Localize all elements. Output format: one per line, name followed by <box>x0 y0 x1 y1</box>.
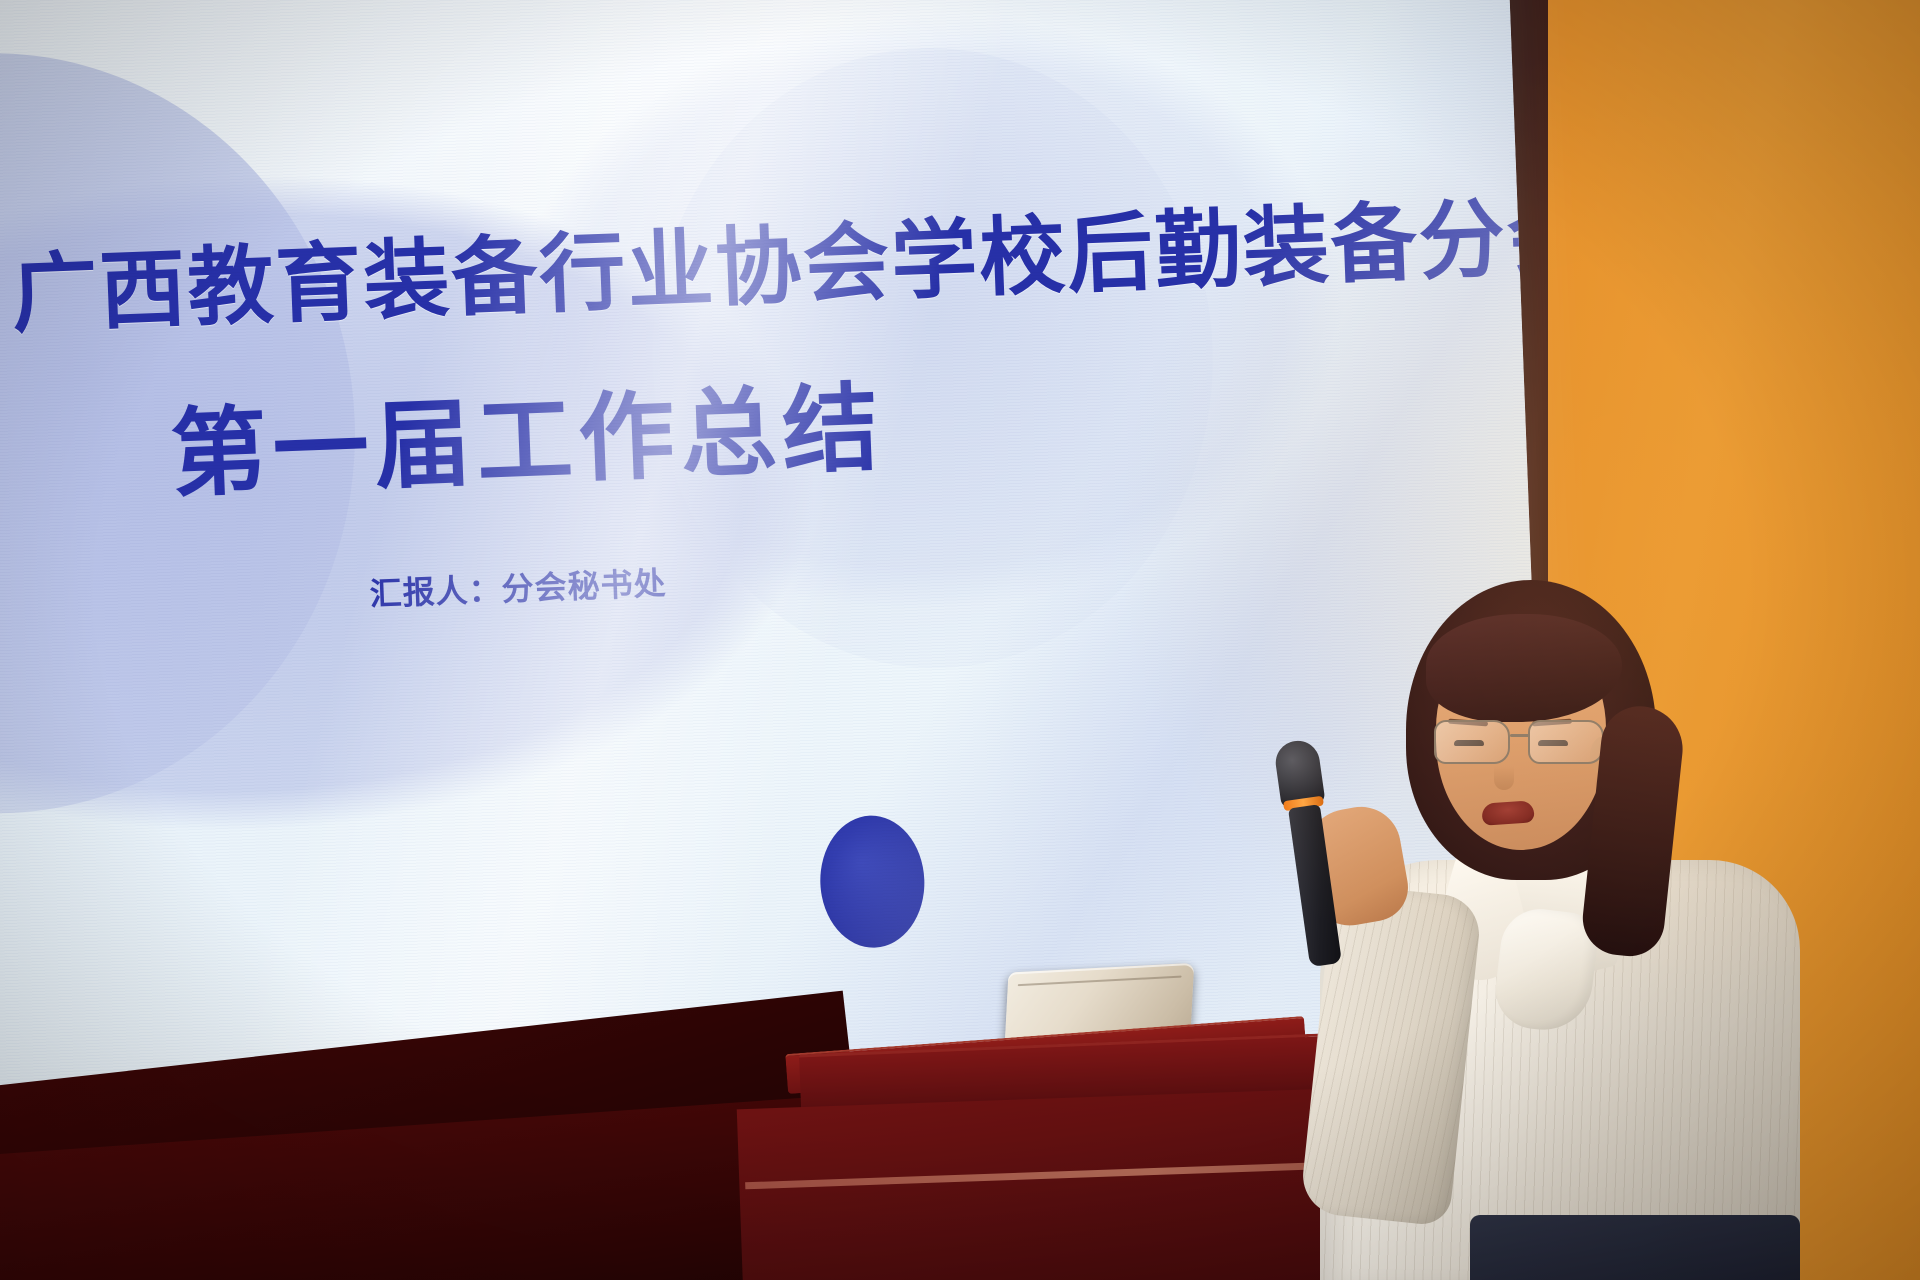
screenshot-root: 广西教育装备行业协会学校后勤装备分会 第一届工作总结 汇报人：分会秘书处 hp <box>0 0 1920 1280</box>
nose <box>1494 766 1514 790</box>
eyeglass-lens-right <box>1528 720 1604 764</box>
mouth <box>1481 800 1534 826</box>
presenter-skirt <box>1470 1215 1800 1280</box>
slide-title-line-2: 第一届工作总结 <box>15 344 1039 521</box>
eyeglass-bridge <box>1510 734 1530 737</box>
presenter <box>1330 560 1800 1280</box>
eyeglass-lens-left <box>1434 720 1510 764</box>
slide-reporter-line: 汇报人：分会秘书处 <box>23 545 1014 628</box>
presenter-head <box>1410 580 1640 860</box>
eyeglasses <box>1432 720 1618 766</box>
slide-title-line-1: 广西教育装备行业协会学校后勤装备分会 <box>9 172 1403 349</box>
laptop-lid-groove <box>1018 976 1182 987</box>
